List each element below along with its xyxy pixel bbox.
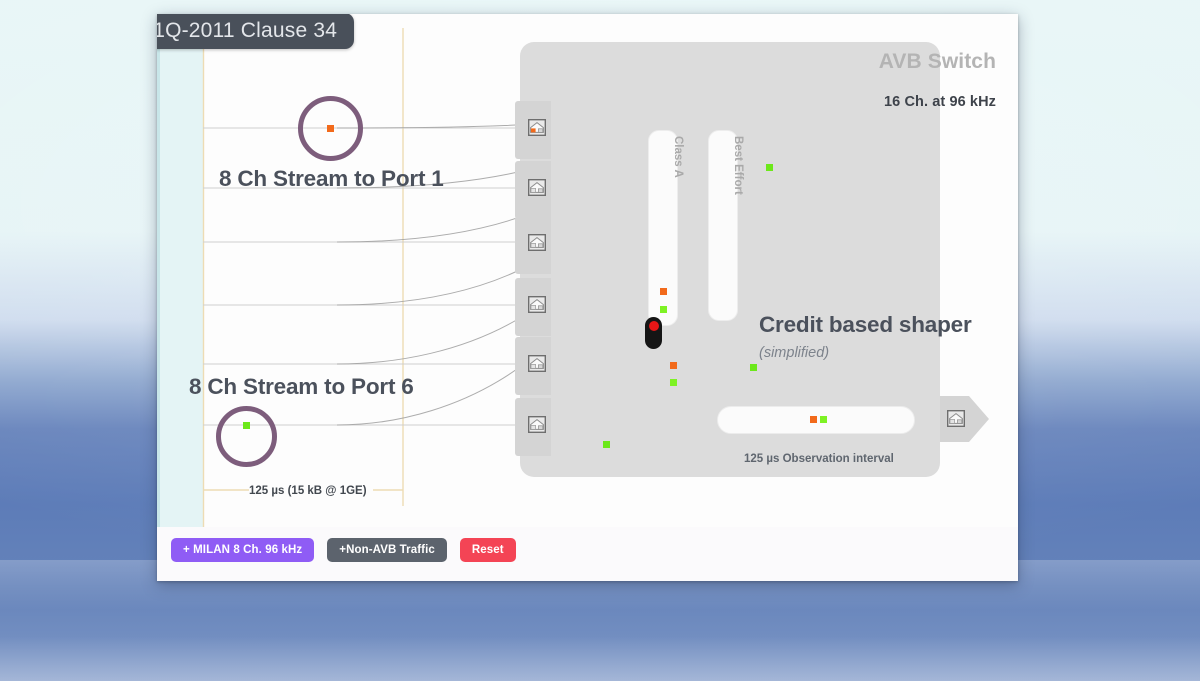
reset-button[interactable]: Reset (460, 538, 516, 562)
network-endpoint-icon[interactable] (528, 416, 546, 433)
add-milan-stream-button[interactable]: + MILAN 8 Ch. 96 kHz (171, 538, 314, 562)
stream-source-packet (327, 125, 334, 132)
network-endpoint-icon[interactable] (528, 355, 546, 372)
egress-packet (670, 379, 677, 386)
observation-packet (820, 416, 827, 423)
queue-class-a-label: Class A (672, 136, 684, 178)
desktop-glare-lower (0, 636, 1200, 681)
stream-source-packet (243, 422, 250, 429)
network-endpoint-icon[interactable] (528, 179, 546, 196)
app-window: FQTSS 802.1Q-2011 Clause 34 AVB Switch 1… (157, 14, 1018, 581)
diagram-stage[interactable]: FQTSS 802.1Q-2011 Clause 34 AVB Switch 1… (157, 14, 1018, 527)
credit-based-shaper-subtitle: (simplified) (759, 345, 829, 361)
in-flight-packet (750, 364, 757, 371)
toolbar: + MILAN 8 Ch. 96 kHz +Non-AVB Traffic Re… (157, 527, 1018, 581)
in-flight-packet (766, 164, 773, 171)
network-endpoint-icon[interactable] (528, 119, 546, 136)
add-non-avb-traffic-button[interactable]: +Non-AVB Traffic (327, 538, 447, 562)
network-endpoint-icon[interactable] (528, 296, 546, 313)
title-badge: FQTSS 802.1Q-2011 Clause 34 (157, 14, 354, 49)
queue-best-effort-label: Best Effort (732, 136, 744, 195)
queued-packet (660, 306, 667, 313)
observation-interval-label: 125 µs Observation interval (744, 453, 894, 465)
observation-packet (810, 416, 817, 423)
toolbar-button-group: + MILAN 8 Ch. 96 kHz +Non-AVB Traffic Re… (171, 538, 516, 562)
avb-switch-title: AVB Switch (879, 50, 996, 74)
egress-packet (670, 362, 677, 369)
in-flight-packet (603, 441, 610, 448)
stream-label-port-1: 8 Ch Stream to Port 1 (219, 166, 444, 192)
credit-based-shaper-gate[interactable] (645, 317, 662, 349)
network-endpoint-icon[interactable] (528, 234, 546, 251)
queued-packet (660, 288, 667, 295)
gate-status-light (649, 321, 659, 331)
network-endpoint-icon[interactable] (947, 410, 965, 427)
timing-caption: 125 µs (15 kB @ 1GE) (249, 485, 367, 497)
stream-label-port-6: 8 Ch Stream to Port 6 (189, 374, 414, 400)
title-badge-standard: 802.1Q-2011 Clause 34 (157, 19, 337, 43)
stream-source-ring[interactable] (216, 406, 277, 467)
credit-based-shaper-title: Credit based shaper (759, 312, 972, 338)
avb-switch-capacity: 16 Ch. at 96 kHz (884, 94, 996, 110)
